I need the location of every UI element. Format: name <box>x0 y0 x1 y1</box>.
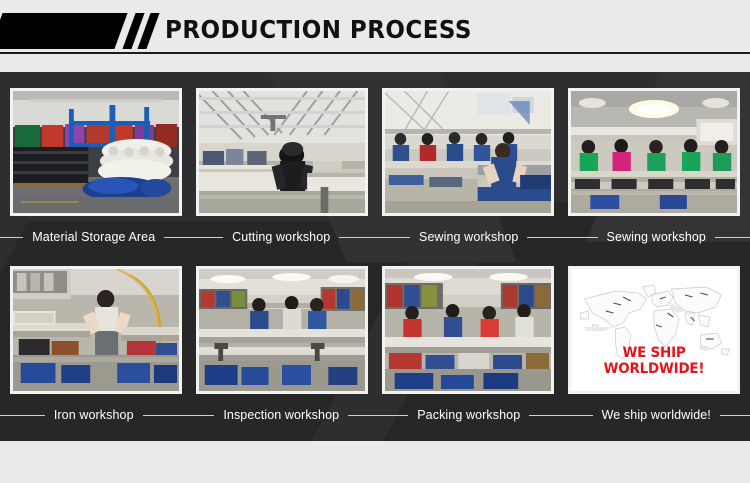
header-banner-group: PRODUCTION PROCESS <box>0 13 750 49</box>
photo-image <box>385 91 551 213</box>
caption-label: We ship worldwide! <box>602 408 711 422</box>
page-title: PRODUCTION PROCESS <box>165 11 472 49</box>
caption-material-storage-area: Material Storage Area <box>0 224 188 250</box>
caption-row-2: Iron workshop Inspection workshop Packin… <box>0 402 750 428</box>
caption-rule-right <box>143 415 188 416</box>
footer-strip <box>0 441 750 483</box>
packing-workshop-photo[interactable] <box>382 266 554 394</box>
caption-rule-left <box>0 415 45 416</box>
caption-sewing-workshop-1: Sewing workshop <box>375 224 563 250</box>
caption-sewing-workshop-2: Sewing workshop <box>563 224 750 250</box>
caption-rule-left <box>0 237 23 238</box>
caption-rule-right <box>715 237 750 238</box>
caption-label: Cutting workshop <box>232 230 330 244</box>
caption-cutting-workshop: Cutting workshop <box>188 224 376 250</box>
page-header: PRODUCTION PROCESS <box>0 0 750 72</box>
cutting-workshop-photo[interactable] <box>196 88 368 216</box>
caption-rule-right <box>348 415 375 416</box>
caption-label: Inspection workshop <box>223 408 339 422</box>
photo-image <box>13 91 179 213</box>
caption-rule-right <box>339 237 375 238</box>
caption-rule-left <box>563 237 598 238</box>
photo-image <box>199 91 365 213</box>
header-black-banner <box>0 13 128 49</box>
caption-we-ship-worldwide: We ship worldwide! <box>563 402 750 428</box>
photo-image <box>13 269 179 391</box>
production-process-panel: Material Storage Area Cutting workshop S… <box>0 72 750 441</box>
caption-rule-right <box>164 237 187 238</box>
iron-workshop-photo[interactable] <box>10 266 182 394</box>
map-overlay-text: WE SHIP WORLDWIDE! <box>574 345 733 377</box>
sewing-workshop-photo-1[interactable] <box>382 88 554 216</box>
caption-rule-left <box>375 237 410 238</box>
caption-row-1: Material Storage Area Cutting workshop S… <box>0 224 750 250</box>
caption-iron-workshop: Iron workshop <box>0 402 188 428</box>
photo-image <box>385 269 551 391</box>
caption-rule-right <box>527 237 562 238</box>
header-divider <box>0 52 750 54</box>
sewing-workshop-photo-2[interactable] <box>568 88 740 216</box>
photo-row-2: WE SHIP WORLDWIDE! <box>10 266 740 394</box>
photo-image <box>571 91 737 213</box>
caption-rule-left <box>563 415 593 416</box>
inspection-workshop-photo[interactable] <box>196 266 368 394</box>
caption-label: Sewing workshop <box>607 230 706 244</box>
caption-label: Packing workshop <box>417 408 520 422</box>
we-ship-worldwide-graphic[interactable]: WE SHIP WORLDWIDE! <box>568 266 740 394</box>
photo-image <box>199 269 365 391</box>
caption-rule-left <box>375 415 408 416</box>
caption-label: Material Storage Area <box>32 230 155 244</box>
material-storage-area-photo[interactable] <box>10 88 182 216</box>
caption-rule-left <box>188 237 224 238</box>
caption-label: Iron workshop <box>54 408 134 422</box>
caption-rule-right <box>529 415 562 416</box>
caption-rule-left <box>188 415 215 416</box>
caption-label: Sewing workshop <box>419 230 518 244</box>
caption-inspection-workshop: Inspection workshop <box>188 402 376 428</box>
caption-packing-workshop: Packing workshop <box>375 402 563 428</box>
photo-row-1 <box>10 88 740 216</box>
caption-rule-right <box>720 415 750 416</box>
world-map-image: WE SHIP WORLDWIDE! <box>571 269 737 391</box>
